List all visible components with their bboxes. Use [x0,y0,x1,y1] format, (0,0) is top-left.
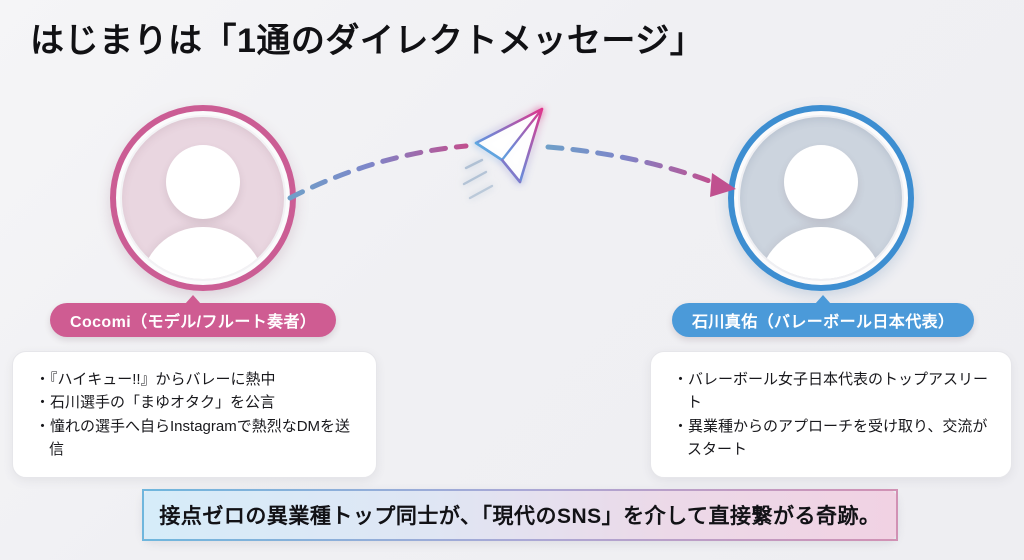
dashed-path-left [290,146,466,198]
right-avatar-ring [728,105,914,291]
left-bullet-list: 『ハイキュー!!』からバレーに熱中 石川選手の「まゆオタク」を公言 憧れの選手へ… [35,368,358,461]
right-person-name-pill[interactable]: 石川真佑（バレーボール日本代表） [672,303,974,337]
left-avatar [110,105,296,291]
right-avatar [728,105,914,291]
summary-banner-text: 接点ゼロの異業種トップ同士が、「現代のSNS」を介して直接繋がる奇跡。 [159,500,880,530]
message-flight-path [280,100,750,220]
paper-plane-icon [464,109,542,198]
summary-banner: 接点ゼロの異業種トップ同士が、「現代のSNS」を介して直接繋がる奇跡。 [142,489,898,541]
left-avatar-ring [110,105,296,291]
list-item: バレーボール女子日本代表のトップアスリート [673,368,993,415]
right-bullet-list: バレーボール女子日本代表のトップアスリート 異業種からのアプローチを受け取り、交… [673,368,993,461]
page-title: はじまりは「1通のダイレクトメッセージ」 [30,20,704,63]
list-item: 『ハイキュー!!』からバレーに熱中 [35,368,358,391]
right-person-info-card: バレーボール女子日本代表のトップアスリート 異業種からのアプローチを受け取り、交… [650,351,1012,478]
dashed-path-right [548,147,712,182]
left-person-name-pill[interactable]: Cocomi（モデル/フルート奏者） [50,303,336,337]
left-person-info-card: 『ハイキュー!!』からバレーに熱中 石川選手の「まゆオタク」を公言 憧れの選手へ… [12,351,377,478]
right-person-name-label: 石川真佑（バレーボール日本代表） [692,308,954,332]
list-item: 憧れの選手へ自らInstagramで熱烈なDMを送信 [35,415,358,462]
slide-canvas: はじまりは「1通のダイレクトメッセージ」 [0,0,1024,560]
left-person-name-label: Cocomi（モデル/フルート奏者） [70,308,316,332]
list-item: 石川選手の「まゆオタク」を公言 [35,391,358,414]
list-item: 異業種からのアプローチを受け取り、交流がスタート [673,415,993,462]
path-arrowhead-icon [710,173,736,197]
